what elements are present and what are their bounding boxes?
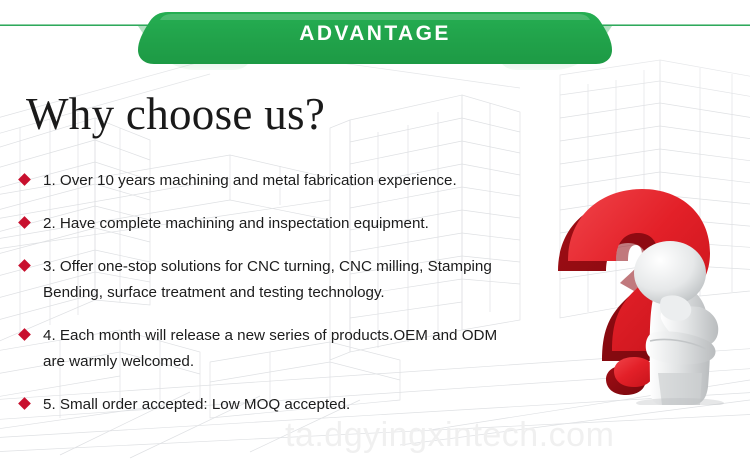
list-item-line1: 2. Have complete machining and inspectat… xyxy=(43,211,593,237)
list-item-line1: 3. Offer one-stop solutions for CNC turn… xyxy=(43,254,593,280)
list-item-line2: are warmly welcomed. xyxy=(43,349,593,375)
diamond-bullet-icon xyxy=(18,259,31,272)
diamond-bullet-icon xyxy=(18,173,31,186)
diamond-bullet-icon xyxy=(18,397,31,410)
list-item: 3. Offer one-stop solutions for CNC turn… xyxy=(18,254,593,306)
banner-title: ADVANTAGE xyxy=(0,22,750,46)
list-item: 4. Each month will release a new series … xyxy=(18,323,593,375)
advantage-list: 1. Over 10 years machining and metal fab… xyxy=(18,168,593,435)
advantage-page: ADVANTAGE Why choose us? xyxy=(0,0,750,462)
site-watermark: ta.dgyingxintech.com xyxy=(285,416,614,455)
diamond-bullet-icon xyxy=(18,328,31,341)
list-item: 1. Over 10 years machining and metal fab… xyxy=(18,168,593,194)
list-item-line2: Bending, surface treatment and testing t… xyxy=(43,280,593,306)
diamond-bullet-icon xyxy=(18,216,31,229)
list-item-line1: 1. Over 10 years machining and metal fab… xyxy=(43,168,593,194)
list-item-line1: 5. Small order accepted: Low MOQ accepte… xyxy=(43,392,593,418)
list-item: 2. Have complete machining and inspectat… xyxy=(18,211,593,237)
list-item-line1: 4. Each month will release a new series … xyxy=(43,323,593,349)
page-title: Why choose us? xyxy=(26,88,325,140)
list-item: 5. Small order accepted: Low MOQ accepte… xyxy=(18,392,593,418)
